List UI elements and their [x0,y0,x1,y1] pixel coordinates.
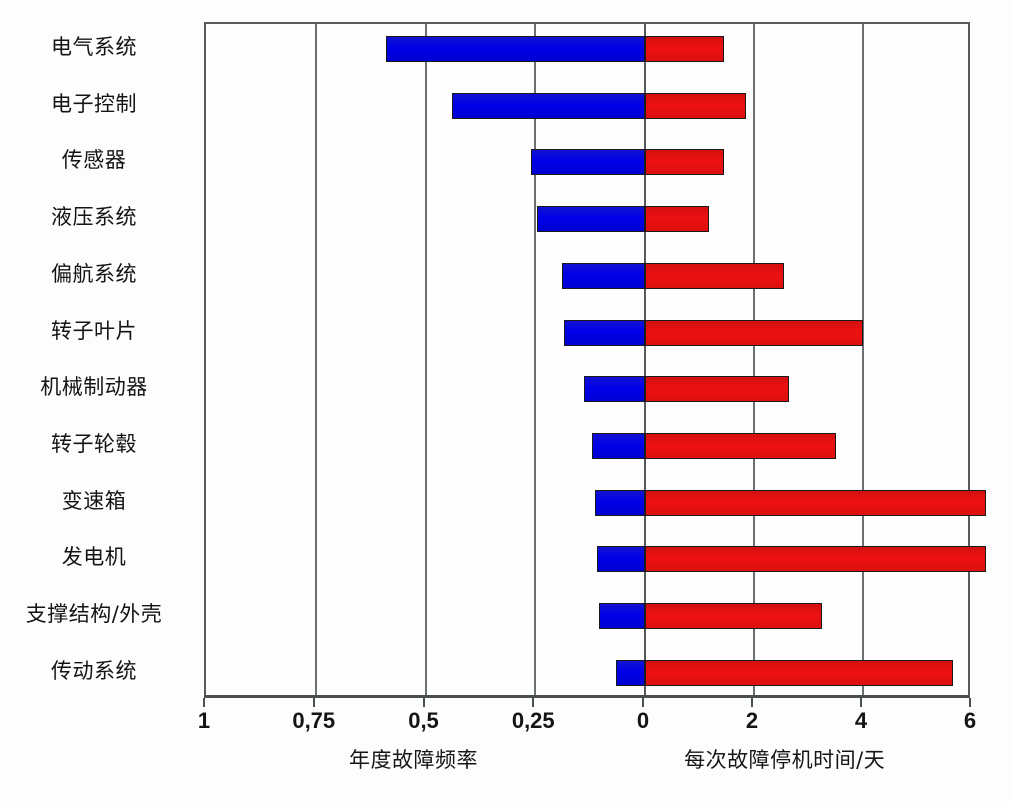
bar-downtime-per-failure [645,660,953,686]
category-label: 传感器 [0,147,188,173]
bar-row [206,36,968,62]
category-label: 转子叶片 [0,318,188,344]
bar-downtime-per-failure [645,433,836,459]
bar-failure-frequency [531,149,645,175]
bar-downtime-per-failure [645,603,822,629]
bar-row [206,660,968,686]
gridline-right-4 [862,24,864,695]
category-label: 液压系统 [0,204,188,230]
bar-failure-frequency [597,546,645,572]
bar-row [206,490,968,516]
tick-mark-left-0-75 [313,698,315,707]
category-label: 机械制动器 [0,374,188,400]
category-axis: 电气系统电子控制传感器液压系统偏航系统转子叶片机械制动器转子轮毂变速箱发电机支撑… [0,22,196,698]
gridline-left-0-25 [534,24,536,695]
bar-failure-frequency [452,93,645,119]
bar-row [206,206,968,232]
bar-downtime-per-failure [645,320,863,346]
bar-row [206,603,968,629]
category-label: 电子控制 [0,91,188,117]
failure-frequency-downtime-chart: 电气系统电子控制传感器液压系统偏航系统转子叶片机械制动器转子轮毂变速箱发电机支撑… [0,0,1011,802]
bar-downtime-per-failure [645,263,784,289]
gridline-left-0-75 [315,24,317,695]
bar-failure-frequency [599,603,645,629]
plot-area [204,22,970,698]
tick-label-right-6: 6 [964,708,976,734]
bar-downtime-per-failure [645,206,709,232]
category-label: 支撑结构/外壳 [0,601,188,627]
tick-label-left-0-75: 0,75 [292,708,335,734]
bar-failure-frequency [584,376,645,402]
bar-downtime-per-failure [645,36,724,62]
bar-failure-frequency [537,206,645,232]
bar-downtime-per-failure [645,546,986,572]
tick-label-left-0-5: 0,5 [408,708,439,734]
category-label: 转子轮毂 [0,431,188,457]
bar-downtime-per-failure [645,490,986,516]
left-axis-caption: 年度故障频率 [349,744,478,774]
gridline-left-0-5 [425,24,427,695]
bar-row [206,546,968,572]
tick-label-right-0: 0 [637,708,649,734]
bar-failure-frequency [562,263,645,289]
category-label: 发电机 [0,544,188,570]
bar-row [206,320,968,346]
bar-failure-frequency [595,490,645,516]
bar-failure-frequency [616,660,645,686]
zero-axis-line [644,24,646,695]
bar-row [206,376,968,402]
tick-mark-right-0 [642,698,644,707]
bar-failure-frequency [592,433,645,459]
bar-downtime-per-failure [645,149,724,175]
tick-label-right-4: 4 [855,708,867,734]
tick-label-left-0-25: 0,25 [512,708,555,734]
category-label: 变速箱 [0,488,188,514]
tick-mark-left-1 [203,698,205,707]
bar-row [206,263,968,289]
bar-downtime-per-failure [645,376,789,402]
gridline-right-2 [753,24,755,695]
bar-failure-frequency [564,320,645,346]
tick-mark-right-4 [860,698,862,707]
tick-mark-right-2 [751,698,753,707]
tick-label-left-1: 1 [198,708,210,734]
tick-label-right-2: 2 [746,708,758,734]
right-axis-caption: 每次故障停机时间/天 [684,744,885,774]
bar-failure-frequency [386,36,645,62]
bar-row [206,433,968,459]
bar-row [206,149,968,175]
tick-mark-left-0-25 [532,698,534,707]
bar-downtime-per-failure [645,93,746,119]
category-label: 电气系统 [0,34,188,60]
bar-row [206,93,968,119]
category-label: 传动系统 [0,658,188,684]
x-axis: 10,750,50,250246 [204,698,970,738]
tick-mark-right-6 [969,698,971,707]
category-label: 偏航系统 [0,261,188,287]
tick-mark-left-0-5 [423,698,425,707]
